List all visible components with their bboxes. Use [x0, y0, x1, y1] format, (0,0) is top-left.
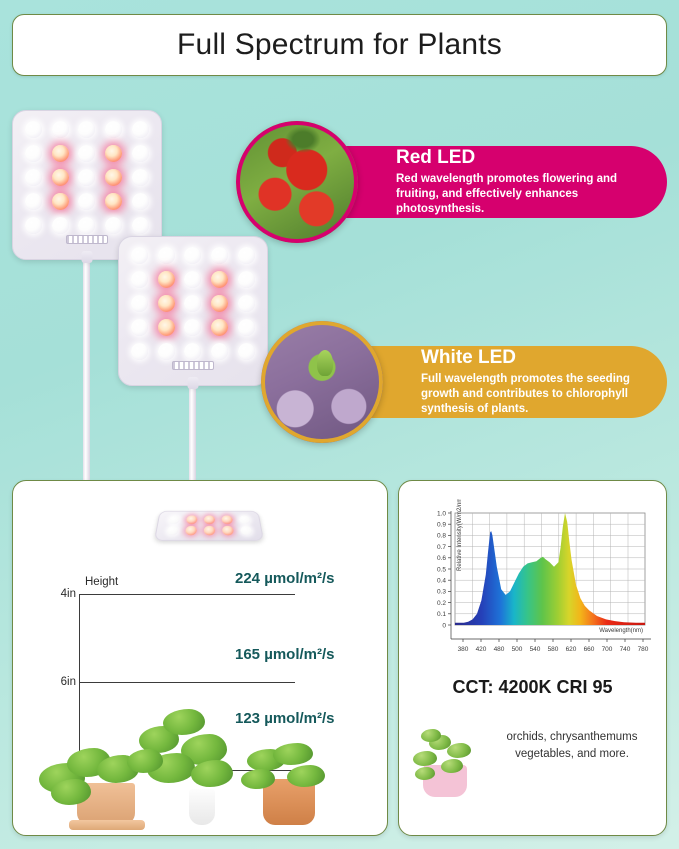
led-white [238, 295, 255, 312]
led-panel-stem [82, 251, 93, 263]
svg-text:700: 700 [602, 646, 613, 653]
led-red [211, 295, 228, 312]
led-white [25, 193, 42, 210]
height-tick-label-4in: 4in [46, 588, 76, 600]
led-grid-front [126, 244, 260, 363]
led-red [211, 271, 228, 288]
led-white [132, 193, 149, 210]
height-tick-line-4in [79, 594, 295, 595]
feature-white-led-description: Full wavelength promotes the seeding gro… [421, 372, 651, 418]
led-white [25, 145, 42, 162]
svg-text:500: 500 [512, 646, 523, 653]
led-white [132, 169, 149, 186]
led-white [105, 217, 122, 234]
led-red [211, 319, 228, 336]
led-white [211, 343, 228, 360]
mini-led-red [222, 526, 234, 536]
spectrum-y-tick-labels: 1.0 0.9 0.8 0.7 0.6 0.5 0.4 0.3 0.2 0.1 … [437, 510, 446, 629]
svg-text:0.8: 0.8 [437, 533, 446, 540]
svg-text:0.1: 0.1 [437, 611, 446, 618]
led-white [25, 169, 42, 186]
suitable-plants-note: orchids, chrysanthemums vegetables, and … [487, 729, 657, 762]
svg-text:1.0: 1.0 [437, 510, 446, 517]
ppfd-value-4in: 224 µmol/m²/s [235, 570, 335, 587]
mini-led-red [186, 515, 197, 524]
led-white [78, 145, 95, 162]
led-red [105, 145, 122, 162]
page-title: Full Spectrum for Plants [177, 28, 502, 62]
spectrum-x-axis-label: Wavelength(nm) [599, 628, 643, 634]
suitable-plants-line-2: vegetables, and more. [487, 746, 657, 763]
led-white [132, 217, 149, 234]
led-white [52, 121, 69, 138]
lamp-pole-front [189, 384, 196, 492]
led-grid-back [20, 118, 154, 237]
led-red [158, 319, 175, 336]
svg-text:380: 380 [458, 646, 469, 653]
led-red [105, 193, 122, 210]
led-white [184, 271, 201, 288]
led-white [52, 217, 69, 234]
led-red [52, 193, 69, 210]
led-white [25, 217, 42, 234]
led-red [52, 145, 69, 162]
led-red [158, 295, 175, 312]
svg-text:480: 480 [494, 646, 505, 653]
leaf [287, 765, 325, 787]
led-white [78, 121, 95, 138]
spectrum-x-tick-labels: 380 420 480 500 540 580 620 660 700 740 … [458, 646, 649, 653]
feature-red-led-description: Red wavelength promotes flowering and fr… [396, 172, 651, 218]
led-white [78, 217, 95, 234]
feature-white-led-photo-ring [261, 321, 383, 443]
led-white [25, 121, 42, 138]
led-white [131, 295, 148, 312]
led-white [184, 319, 201, 336]
leaf [447, 743, 471, 758]
svg-text:0.6: 0.6 [437, 555, 446, 562]
mini-led-red [221, 515, 232, 524]
spectrum-x-ticks [463, 639, 643, 642]
svg-text:540: 540 [530, 646, 541, 653]
leaf [191, 760, 233, 787]
tomatoes-photo [236, 121, 358, 243]
mini-led-bar [154, 511, 264, 541]
led-connector-strip [66, 235, 108, 244]
led-white [131, 319, 148, 336]
led-white [238, 247, 255, 264]
leaf [273, 743, 313, 765]
svg-text:0: 0 [442, 622, 446, 629]
svg-text:0.2: 0.2 [437, 600, 446, 607]
led-red [158, 271, 175, 288]
pot-saucer [69, 820, 145, 830]
page-title-banner: Full Spectrum for Plants [12, 14, 667, 76]
led-white [131, 343, 148, 360]
potted-plant-icon [411, 725, 479, 797]
led-white [132, 145, 149, 162]
led-white [238, 319, 255, 336]
height-tick-label-6in: 6in [46, 676, 76, 688]
ppfd-height-card: Height 4in 6in 8in 224 µmol/m²/s 165 µmo… [12, 480, 388, 836]
svg-text:0.9: 0.9 [437, 522, 446, 529]
svg-text:0.3: 0.3 [437, 589, 446, 596]
led-white [78, 193, 95, 210]
led-white [158, 247, 175, 264]
spectrum-y-ticks [448, 513, 451, 625]
mini-led-white [238, 515, 250, 524]
led-white [238, 343, 255, 360]
led-connector-strip [172, 361, 214, 370]
led-white [131, 247, 148, 264]
potted-plants-illustration [31, 697, 371, 827]
led-panel-front [118, 236, 268, 386]
svg-text:740: 740 [620, 646, 631, 653]
mini-led-white [166, 526, 179, 536]
ppfd-value-6in: 165 µmol/m²/s [235, 646, 335, 663]
feature-white-led-title: White LED [421, 347, 651, 369]
mini-led-white [168, 515, 180, 524]
svg-text:420: 420 [476, 646, 487, 653]
lamp-pole-back [83, 258, 90, 490]
led-white [105, 121, 122, 138]
leaf [163, 709, 205, 735]
spectrum-y-axis-label: Relative Intensity(W/m2/nm) [457, 499, 463, 571]
svg-text:780: 780 [638, 646, 649, 653]
mini-led-red [203, 526, 214, 536]
svg-text:660: 660 [584, 646, 595, 653]
svg-text:0.4: 0.4 [437, 578, 446, 585]
feature-red-led-photo-ring [236, 121, 358, 243]
seedlings-photo [261, 321, 383, 443]
mini-led-red [185, 526, 197, 536]
led-white [211, 247, 228, 264]
svg-text:0.5: 0.5 [437, 566, 446, 573]
mini-led-red [204, 515, 215, 524]
svg-text:620: 620 [566, 646, 577, 653]
led-panel-stem [188, 377, 199, 389]
feature-red-led-title: Red LED [396, 147, 651, 169]
led-white [78, 169, 95, 186]
svg-text:0.7: 0.7 [437, 544, 446, 551]
svg-text:580: 580 [548, 646, 559, 653]
spectrum-card: 1.0 0.9 0.8 0.7 0.6 0.5 0.4 0.3 0.2 0.1 … [398, 480, 667, 836]
height-axis-title: Height [85, 576, 118, 588]
height-tick-line-6in [79, 682, 295, 683]
led-white [131, 271, 148, 288]
led-white [158, 343, 175, 360]
led-white [184, 295, 201, 312]
led-red [105, 169, 122, 186]
suitable-plants-line-1: orchids, chrysanthemums [487, 729, 657, 746]
led-white [132, 121, 149, 138]
led-red [52, 169, 69, 186]
spectrum-chart-svg: 1.0 0.9 0.8 0.7 0.6 0.5 0.4 0.3 0.2 0.1 … [411, 499, 657, 661]
leaf [413, 751, 437, 766]
led-white [184, 247, 201, 264]
white-pot-center [189, 789, 215, 825]
led-white [184, 343, 201, 360]
led-white [238, 271, 255, 288]
spectrum-chart: 1.0 0.9 0.8 0.7 0.6 0.5 0.4 0.3 0.2 0.1 … [411, 499, 657, 661]
cct-cri-spec: CCT: 4200K CRI 95 [399, 677, 666, 698]
mini-led-white [240, 526, 253, 536]
